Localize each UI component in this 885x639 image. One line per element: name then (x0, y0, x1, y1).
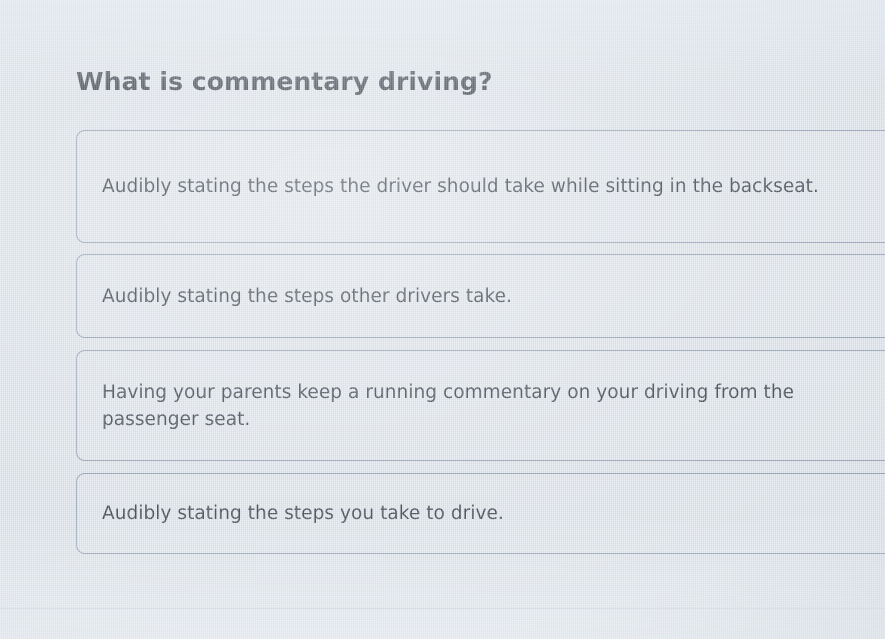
screen-photo: What is commentary driving? Audibly stat… (0, 0, 885, 639)
screen-seam-line (0, 608, 885, 609)
answer-option-d[interactable]: Audibly stating the steps you take to dr… (76, 473, 885, 554)
answer-option-label: Audibly stating the steps other drivers … (77, 283, 542, 310)
answer-option-label: Audibly stating the steps the driver sho… (77, 173, 849, 200)
answer-option-label: Audibly stating the steps you take to dr… (77, 500, 534, 527)
answer-option-label: Having your parents keep a running comme… (77, 379, 885, 433)
answer-option-b[interactable]: Audibly stating the steps other drivers … (76, 254, 885, 338)
quiz-page: What is commentary driving? Audibly stat… (0, 0, 885, 639)
answer-option-c[interactable]: Having your parents keep a running comme… (76, 350, 885, 461)
page-title: What is commentary driving? (76, 67, 493, 96)
answer-option-a[interactable]: Audibly stating the steps the driver sho… (76, 130, 885, 243)
